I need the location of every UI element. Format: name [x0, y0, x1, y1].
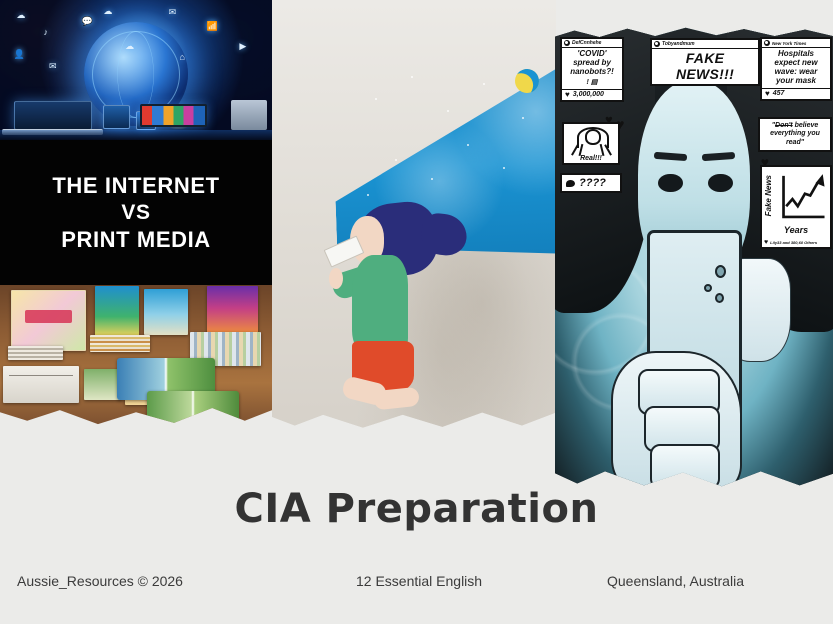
comment-bubble-question-marks[interactable]: ????	[560, 173, 622, 193]
post-text: Hospitals expect new wave: wear your mas…	[762, 48, 830, 88]
avatar	[654, 41, 660, 47]
post-username: Tobyandmum	[662, 41, 695, 47]
alien-caption: Real!!!	[564, 155, 618, 162]
chart-area: Fake News Years ♥ Lily33 and 380,60 Othe…	[762, 167, 830, 247]
chart-x-axis-label: Years	[762, 225, 830, 235]
caption-line-3: PRINT MEDIA	[61, 227, 211, 253]
quote-dont-believe-everything: "Don't believe everything you read"	[758, 117, 832, 152]
post-like-count: 457	[773, 90, 785, 97]
camera-lens-icon	[715, 265, 726, 278]
digital-devices-collage: ☁ ♪ 👤 ✉ ☁ ✉ 📶 ▶ ⌂ ☁ 💬	[0, 0, 272, 140]
chart-svg	[762, 167, 830, 229]
magazine-spring-sale	[11, 290, 86, 351]
footer-location: Queensland, Australia	[607, 573, 744, 589]
caption-line-2: VS	[121, 201, 150, 225]
figure-finger	[650, 444, 721, 490]
alien-leg	[571, 144, 579, 155]
chart-like-row: ♥ Lily33 and 380,60 Others	[764, 239, 817, 246]
tablet-icon	[103, 105, 129, 129]
social-post-new-york-times[interactable]: New York Times Hospitals expect new wave…	[760, 37, 832, 101]
footer-copyright: Aussie_Resources © 2026	[17, 573, 183, 589]
fake-news-trend-chart: Fake News Years ♥ Lily33 and 380,60 Othe…	[760, 165, 832, 249]
play-icon: ▶	[239, 42, 246, 51]
wifi-icon: 📶	[207, 22, 218, 31]
laptop-icon	[14, 101, 92, 130]
post-like-count: 3,000,000	[573, 91, 604, 98]
open-magazine	[147, 391, 239, 425]
user-icon: 👤	[14, 50, 25, 59]
mail-icon: ✉	[169, 8, 177, 17]
post-like-row: ♥ 3,000,000	[562, 89, 622, 100]
cloud-icon: ☁	[103, 7, 112, 16]
television-icon	[140, 104, 207, 127]
avatar	[764, 40, 770, 46]
chat-icon: 💬	[82, 17, 93, 26]
caption-line-1: THE INTERNET	[52, 173, 219, 199]
avatar	[564, 40, 570, 46]
reading-mural-image	[272, 0, 556, 432]
figure-top	[352, 255, 409, 354]
social-post-alien-conspiracy[interactable]: Real!!!	[562, 122, 620, 165]
footer-subject: 12 Essential English	[356, 573, 482, 589]
print-media-collage	[0, 285, 272, 425]
cloud-icon: ☁	[16, 11, 25, 20]
alien-drawing: Real!!!	[564, 124, 618, 163]
magazine-summer-music-festival	[207, 286, 259, 335]
device-row	[0, 76, 272, 141]
social-post-fake-news[interactable]: Tobyandmum FAKE NEWS!!!	[650, 38, 760, 86]
home-icon: ⌂	[180, 53, 185, 62]
speech-bubble-icon	[566, 180, 575, 187]
post-extra: ! ▤	[562, 79, 622, 89]
alien-head-icon	[585, 129, 602, 145]
newspaper-daily-news	[3, 366, 79, 402]
page-title: CIA Preparation	[0, 486, 833, 532]
post-text: 'COVID' spread by nanobots?!	[562, 48, 622, 79]
social-post-covid[interactable]: DefCnnhehe 'COVID' spread by nanobots?! …	[560, 37, 624, 102]
magazine-travel	[144, 289, 188, 335]
comment-text: ????	[579, 177, 606, 189]
post-username-row: DefCnnhehe	[562, 39, 622, 48]
camera-lens-icon	[704, 284, 712, 292]
cloud-icon: ☁	[125, 42, 134, 51]
mail-icon: ✉	[49, 62, 57, 71]
camera-lens-icon	[715, 293, 724, 303]
post-like-row: ♥ 457	[762, 88, 830, 99]
music-note-icon: ♪	[44, 28, 49, 37]
heart-icon: ♥	[764, 239, 768, 246]
slide-canvas: ☁ ♪ 👤 ✉ ☁ ✉ 📶 ▶ ⌂ ☁ 💬	[0, 0, 833, 624]
post-text: FAKE NEWS!!!	[652, 49, 758, 84]
post-username-row: New York Times	[762, 39, 830, 48]
quote-strikethrough: Don't	[775, 122, 793, 129]
post-username: DefCnnhehe	[572, 40, 601, 46]
magazine-stack	[8, 346, 62, 360]
chart-like-count: Lily33 and 380,60 Others	[770, 240, 817, 245]
heart-icon: ♥	[565, 91, 570, 99]
magazine-health	[95, 286, 139, 336]
post-username-row: Tobyandmum	[652, 40, 758, 49]
fake-news-comic-image: ♥ ♥ ♥ ♥ DefCnnhehe 'COVID' spread by nan…	[555, 25, 833, 490]
post-username: New York Times	[772, 41, 806, 46]
heart-icon: ♥	[765, 90, 770, 98]
figure-eye	[658, 174, 683, 193]
footer: Aussie_Resources © 2026 12 Essential Eng…	[0, 573, 833, 599]
smart-fridge-icon	[231, 100, 266, 130]
magazine-stack	[90, 335, 150, 352]
internet-vs-print-media-image: ☁ ♪ 👤 ✉ ☁ ✉ 📶 ▶ ⌂ ☁ 💬	[0, 0, 272, 425]
internet-vs-print-caption: THE INTERNET VS PRINT MEDIA	[0, 140, 272, 285]
reflective-floor	[0, 130, 272, 140]
